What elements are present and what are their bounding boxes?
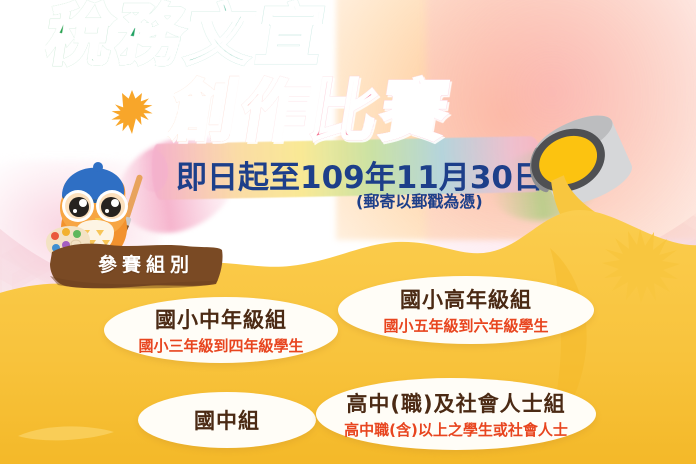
title-line2: 創作比賽 xyxy=(164,58,459,154)
category-name: 國小中年級組 xyxy=(155,304,287,334)
category-pill-elementary-high[interactable]: 國小高年級組 國小五年級到六年級學生 xyxy=(338,276,594,344)
category-pill-senior-and-public[interactable]: 高中(職)及社會人士組 高中職(含)以上之學生或社會人士 xyxy=(316,378,596,450)
category-detail: 高中職(含)以上之學生或社會人士 xyxy=(344,419,568,440)
category-name: 高中(職)及社會人士組 xyxy=(346,388,565,418)
category-pill-junior-high[interactable]: 國中組 xyxy=(138,392,316,448)
category-detail: 國小五年級到六年級學生 xyxy=(383,315,548,336)
orange-splat-icon xyxy=(108,88,156,136)
poster-canvas: 稅務文宣 稅務文宣 創作比賽 即日起至109年11月30日止 (郵寄以郵戳為憑) xyxy=(0,0,696,464)
category-detail: 國小三年級到四年級學生 xyxy=(138,335,303,356)
yellow-splat-icon xyxy=(590,225,694,325)
category-name: 國中組 xyxy=(194,405,260,435)
category-pill-elementary-middle[interactable]: 國小中年級組 國小三年級到四年級學生 xyxy=(104,297,338,363)
section-label-text: 參賽組別 xyxy=(86,250,206,277)
category-name: 國小高年級組 xyxy=(400,284,532,314)
